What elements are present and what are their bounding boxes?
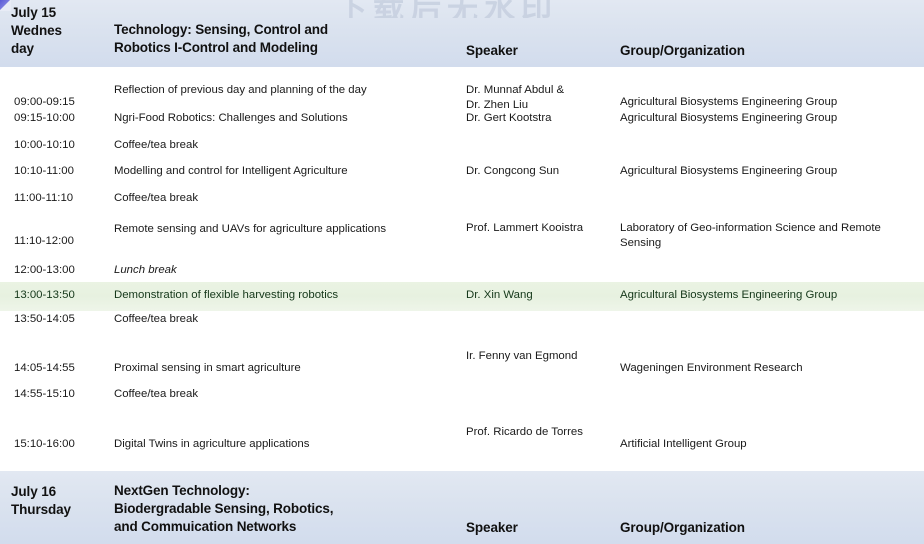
day-date-july-16: July 16 Thursday bbox=[11, 483, 111, 519]
row-time: 11:10-12:00 bbox=[14, 234, 110, 249]
row-speaker: Dr. Congcong Sun bbox=[466, 164, 614, 179]
row-time: 11:00-11:10 bbox=[14, 191, 110, 206]
table-row[interactable]: 13:00-13:50Demonstration of flexible har… bbox=[0, 282, 924, 311]
day-theme-line1: NextGen Technology: bbox=[114, 482, 459, 500]
row-speaker: Dr. Gert Kootstra bbox=[466, 111, 614, 126]
column-header-group-july-15: Group/Organization bbox=[620, 43, 745, 58]
day-theme-line3: and Commuication Networks bbox=[114, 518, 459, 536]
row-time: 14:05-14:55 bbox=[14, 361, 110, 376]
row-organization: Agricultural Biosystems Engineering Grou… bbox=[620, 164, 920, 179]
row-speaker: Dr. Xin Wang bbox=[466, 288, 614, 303]
day-theme-july-15: Technology: Sensing, Control and Robotic… bbox=[114, 21, 459, 57]
day-header-july-15: July 15 Wednes day Technology: Sensing, … bbox=[0, 0, 924, 67]
row-time: 09:15-10:00 bbox=[14, 111, 110, 126]
row-time: 10:00-10:10 bbox=[14, 138, 110, 153]
row-topic: Coffee/tea break bbox=[114, 387, 460, 402]
row-speaker: Dr. Munnaf Abdul &Dr. Zhen Liu bbox=[466, 83, 614, 113]
table-row[interactable]: 11:10-12:00Remote sensing and UAVs for a… bbox=[0, 214, 924, 260]
row-topic: Coffee/tea break bbox=[114, 312, 460, 327]
day-header-july-16: July 16 Thursday NextGen Technology: Bio… bbox=[0, 471, 924, 544]
row-topic: Coffee/tea break bbox=[114, 138, 460, 153]
row-organization: Wageningen Environment Research bbox=[620, 361, 920, 376]
row-topic: Modelling and control for Intelligent Ag… bbox=[114, 164, 460, 179]
table-row[interactable]: 15:10-16:00Digital Twins in agriculture … bbox=[0, 417, 924, 463]
table-row[interactable]: 14:55-15:10Coffee/tea break bbox=[0, 387, 924, 413]
row-organization: Artificial Intelligent Group bbox=[620, 437, 920, 452]
row-speaker: Ir. Fenny van Egmond bbox=[466, 349, 614, 364]
column-header-group-july-16: Group/Organization bbox=[620, 520, 745, 535]
row-topic: Demonstration of flexible harvesting rob… bbox=[114, 288, 460, 303]
table-row[interactable]: 14:05-14:55Proximal sensing in smart agr… bbox=[0, 341, 924, 387]
row-time: 10:10-11:00 bbox=[14, 164, 110, 179]
row-organization: Agricultural Biosystems Engineering Grou… bbox=[620, 95, 920, 110]
day-theme-line2: Biodergradable Sensing, Robotics, bbox=[114, 500, 459, 518]
row-topic: Reflection of previous day and planning … bbox=[114, 83, 460, 98]
day-date-july-15: July 15 Wednes day bbox=[11, 4, 111, 58]
row-time: 13:50-14:05 bbox=[14, 312, 110, 327]
row-time: 15:10-16:00 bbox=[14, 437, 110, 452]
row-speaker: Prof. Lammert Kooistra bbox=[466, 221, 614, 236]
day-theme-line2: Robotics I-Control and Modeling bbox=[114, 39, 459, 57]
schedule-page: 下载后无水印 July 15 Wednes day Technology: Se… bbox=[0, 0, 924, 544]
row-topic: Lunch break bbox=[114, 263, 460, 278]
row-speaker: Prof. Ricardo de Torres bbox=[466, 425, 614, 440]
table-row[interactable]: 09:00-09:15Reflection of previous day an… bbox=[0, 83, 924, 109]
row-organization: Agricultural Biosystems Engineering Grou… bbox=[620, 111, 920, 126]
day-date-line1: July 15 bbox=[11, 4, 111, 22]
day-date-line2: Thursday bbox=[11, 501, 111, 519]
schedule-rows-july-15: 09:00-09:15Reflection of previous day an… bbox=[0, 67, 924, 471]
table-row[interactable]: 13:50-14:05Coffee/tea break bbox=[0, 312, 924, 338]
row-topic: Digital Twins in agriculture application… bbox=[114, 437, 460, 452]
day-date-line2: Wednes bbox=[11, 22, 111, 40]
column-header-speaker-july-15: Speaker bbox=[466, 43, 518, 58]
column-header-speaker-july-16: Speaker bbox=[466, 520, 518, 535]
day-theme-july-16: NextGen Technology: Biodergradable Sensi… bbox=[114, 482, 459, 537]
row-organization: Laboratory of Geo-information Science an… bbox=[620, 221, 920, 251]
day-date-line1: July 16 bbox=[11, 483, 111, 501]
day-date-line3: day bbox=[11, 40, 111, 58]
row-time: 13:00-13:50 bbox=[14, 288, 110, 303]
day-theme-line1: Technology: Sensing, Control and bbox=[114, 21, 459, 39]
row-topic: Ngri-Food Robotics: Challenges and Solut… bbox=[114, 111, 460, 126]
row-topic: Coffee/tea break bbox=[114, 191, 460, 206]
table-row[interactable]: 10:10-11:00Modelling and control for Int… bbox=[0, 164, 924, 190]
row-topic: Remote sensing and UAVs for agriculture … bbox=[114, 222, 460, 237]
row-time: 14:55-15:10 bbox=[14, 387, 110, 402]
row-topic: Proximal sensing in smart agriculture bbox=[114, 361, 460, 376]
table-row[interactable]: 10:00-10:10Coffee/tea break bbox=[0, 138, 924, 164]
row-organization: Agricultural Biosystems Engineering Grou… bbox=[620, 288, 920, 303]
table-row[interactable]: 09:15-10:00Ngri-Food Robotics: Challenge… bbox=[0, 111, 924, 137]
row-time: 12:00-13:00 bbox=[14, 263, 110, 278]
row-time: 09:00-09:15 bbox=[14, 95, 110, 110]
